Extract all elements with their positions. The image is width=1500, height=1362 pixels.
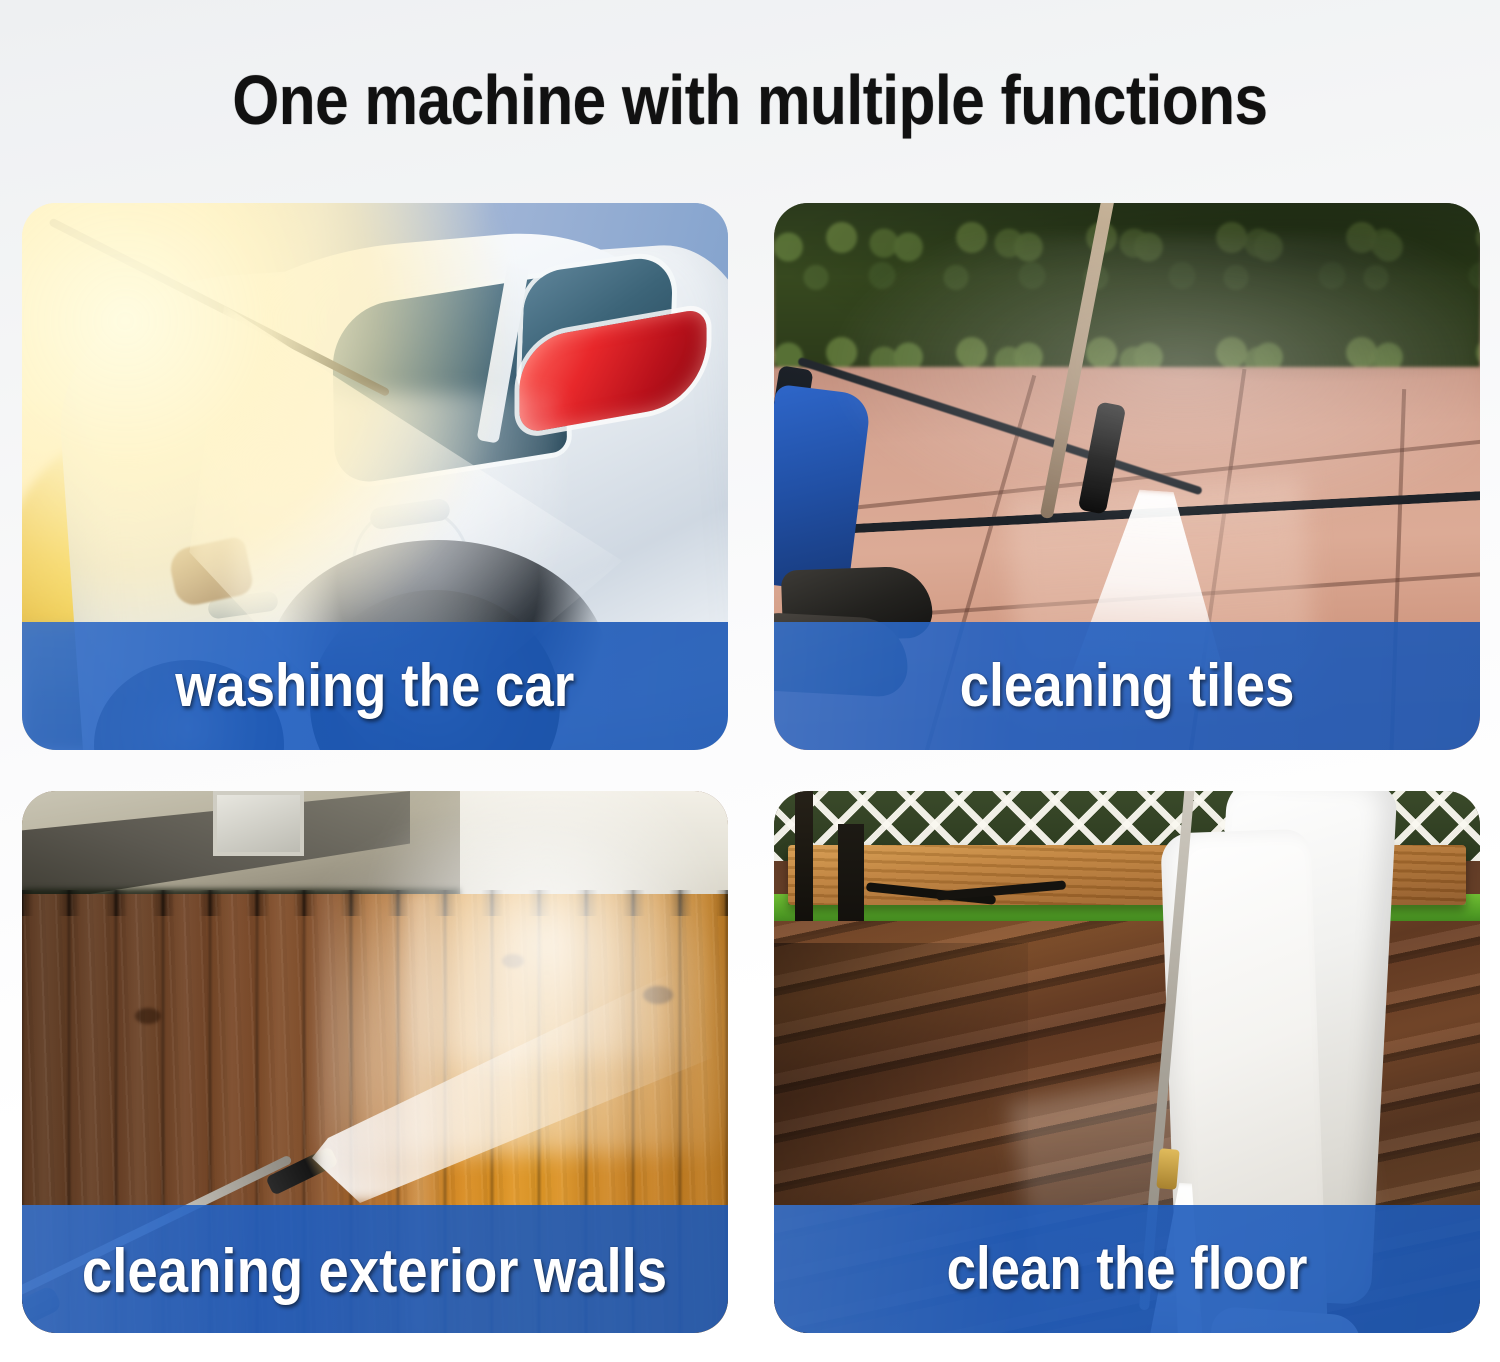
feature-card-washing-the-car[interactable]: washing the car (22, 203, 728, 750)
sun-flare (22, 203, 522, 693)
feature-card-cleaning-tiles[interactable]: cleaning tiles (774, 203, 1480, 750)
feature-card-cleaning-exterior-walls[interactable]: cleaning exterior walls (22, 791, 728, 1333)
caption-bar-washing-the-car: washing the car (22, 622, 728, 750)
page-title: One machine with multiple functions (105, 62, 1395, 138)
caption-bar-cleaning-tiles: cleaning tiles (774, 622, 1480, 750)
caption-label: washing the car (175, 654, 574, 718)
feature-grid: washing the car cleaning tiles (22, 203, 1480, 1333)
caption-label: clean the floor (947, 1237, 1308, 1301)
feature-card-clean-the-floor[interactable]: clean the floor (774, 791, 1480, 1333)
railing-post-secondary (795, 791, 813, 932)
caption-bar-cleaning-exterior-walls: cleaning exterior walls (22, 1205, 728, 1333)
water-mist-upper (382, 791, 712, 1061)
caption-label: cleaning tiles (960, 654, 1295, 718)
water-mist (774, 236, 1480, 564)
house-window (213, 791, 305, 856)
wood-knot (135, 1008, 161, 1024)
lance-coupler (1156, 1148, 1179, 1190)
caption-label: cleaning exterior walls (82, 1240, 667, 1304)
caption-bar-clean-the-floor: clean the floor (774, 1205, 1480, 1333)
